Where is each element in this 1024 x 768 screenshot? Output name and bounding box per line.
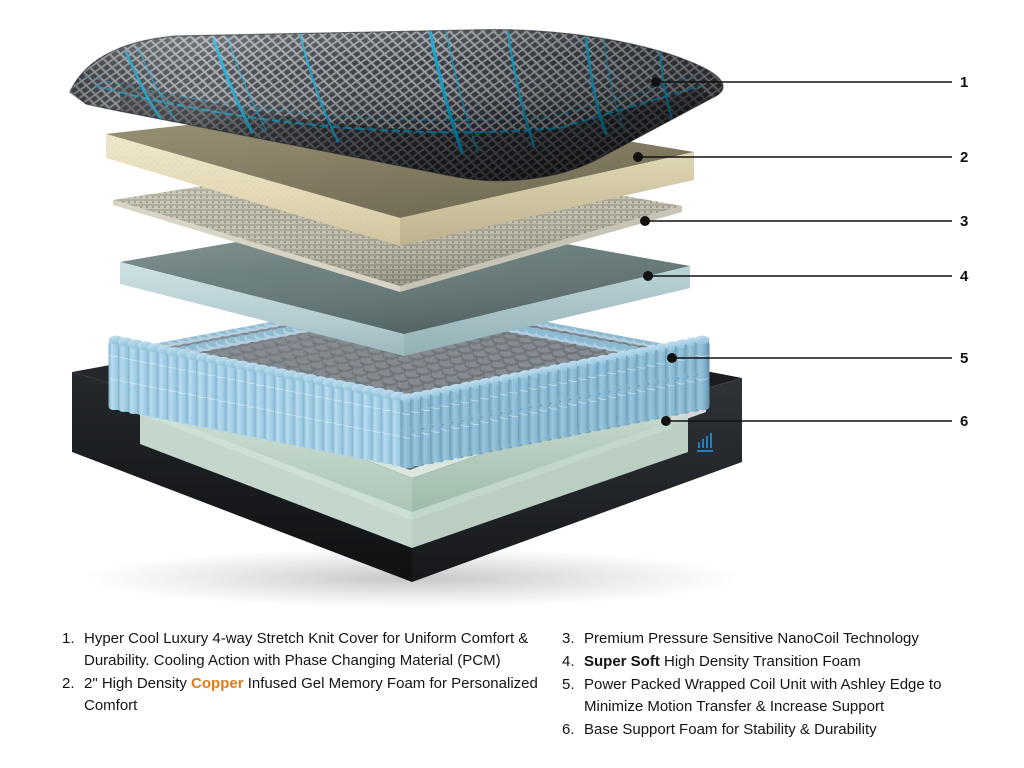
leader-number-5: 5 bbox=[960, 351, 968, 366]
caption-number: 6. bbox=[562, 719, 584, 741]
caption-item-6: 6.Base Support Foam for Stability & Dura… bbox=[562, 719, 1002, 741]
caption-column-left: 1.Hyper Cool Luxury 4-way Stretch Knit C… bbox=[62, 628, 552, 718]
caption-text: Super Soft High Density Transition Foam bbox=[584, 651, 1002, 673]
leader-number-1: 1 bbox=[960, 75, 968, 90]
caption-number: 4. bbox=[562, 651, 584, 673]
caption-column-right: 3.Premium Pressure Sensitive NanoCoil Te… bbox=[562, 628, 1002, 742]
caption-text: 2" High Density Copper Infused Gel Memor… bbox=[84, 673, 552, 717]
leader-number-6: 6 bbox=[960, 414, 968, 429]
wrapped-coil bbox=[695, 336, 710, 375]
caption-item-2: 2.2" High Density Copper Infused Gel Mem… bbox=[62, 673, 552, 717]
leader-number-2: 2 bbox=[960, 150, 968, 165]
leader-line-3 bbox=[641, 217, 952, 225]
caption-number: 5. bbox=[562, 674, 584, 696]
caption-item-3: 3.Premium Pressure Sensitive NanoCoil Te… bbox=[562, 628, 1002, 650]
caption-number: 3. bbox=[562, 628, 584, 650]
leader-line-5 bbox=[668, 354, 952, 362]
leader-line-4 bbox=[644, 272, 952, 280]
caption-text: Power Packed Wrapped Coil Unit with Ashl… bbox=[584, 674, 1002, 718]
caption-legend: 1.Hyper Cool Luxury 4-way Stretch Knit C… bbox=[0, 628, 1024, 768]
caption-item-5: 5.Power Packed Wrapped Coil Unit with As… bbox=[562, 674, 1002, 718]
leader-number-4: 4 bbox=[960, 269, 968, 284]
caption-item-4: 4.Super Soft High Density Transition Foa… bbox=[562, 651, 1002, 673]
caption-item-1: 1.Hyper Cool Luxury 4-way Stretch Knit C… bbox=[62, 628, 552, 672]
caption-number: 1. bbox=[62, 628, 84, 650]
mattress-exploded-diagram: 1 2 3 4 5 6 bbox=[0, 0, 1024, 620]
diagram-page: 1 2 3 4 5 6 1.Hyper Cool Luxury 4-way St… bbox=[0, 0, 1024, 768]
caption-text: Premium Pressure Sensitive NanoCoil Tech… bbox=[584, 628, 1002, 650]
caption-number: 2. bbox=[62, 673, 84, 695]
copper-highlight: Copper bbox=[191, 675, 244, 692]
leader-number-3: 3 bbox=[960, 214, 968, 229]
caption-text: Base Support Foam for Stability & Durabi… bbox=[584, 719, 1002, 741]
caption-text: Hyper Cool Luxury 4-way Stretch Knit Cov… bbox=[84, 628, 552, 672]
